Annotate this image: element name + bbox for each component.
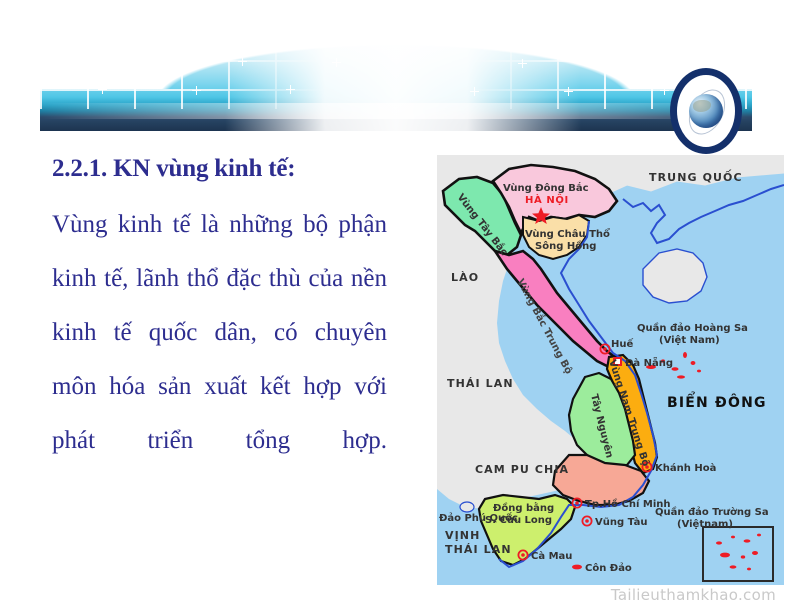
map-label-vinh: VỊNH [445, 529, 480, 542]
map-label-song-hong: Sông Hồng [535, 239, 596, 252]
map-label-phu-quoc: Đảo Phú Quốc [439, 511, 518, 524]
map-label-vinh-thai-lan: THÁI LAN [445, 543, 512, 556]
map-label-ha-noi: HÀ NỘI [525, 193, 569, 206]
map-label-hoang-sa-sub: (Việt Nam) [659, 334, 720, 346]
map-label-hue: Huế [611, 337, 633, 350]
map-label-lao: LÀO [451, 271, 479, 284]
banner-shine [40, 103, 752, 119]
island-con-dao [572, 565, 582, 570]
map-label-vung-dong-bac: Vùng Đông Bắc [503, 181, 589, 194]
map-label-thai-lan: THÁI LAN [447, 377, 514, 390]
map-label-cam-pu-chia: CAM PU CHIA [475, 463, 569, 476]
map-label-da-nang: Đà Nẵng [625, 356, 673, 369]
map-label-hoang-sa: Quần đảo Hoàng Sa [637, 322, 748, 334]
globe-sphere [689, 94, 723, 128]
slide-header-banner [40, 31, 752, 131]
slide-text-column: 2.2.1. KN vùng kinh tế: Vùng kinh tế là … [52, 145, 387, 468]
islands-truong-sa-inset-box [703, 527, 773, 581]
map-graphic: TRUNG QUỐC LÀO THÁI LAN CAM PU CHIA VỊNH… [437, 155, 784, 585]
map-label-ca-mau: Cà Mau [531, 550, 572, 562]
map-label-vung-tau: Vũng Tàu [595, 516, 648, 528]
map-label-trung-quoc: TRUNG QUỐC [649, 169, 743, 184]
vietnam-economic-regions-map: TRUNG QUỐC LÀO THÁI LAN CAM PU CHIA VỊNH… [437, 155, 784, 585]
map-watermark: Tailieuthamkhao.com [437, 586, 784, 608]
body-paragraph: Vùng kinh tế là những bộ phận kinh tế, l… [52, 198, 387, 468]
map-label-con-dao: Côn Đảo [585, 562, 632, 574]
map-label-vung-chau-tho: Vùng Châu Thổ [525, 227, 610, 240]
map-label-truong-sa: Quần đảo Trường Sa [655, 506, 769, 518]
page-title: 2.2.1. KN vùng kinh tế: [52, 145, 387, 192]
map-label-khanh-hoa: Khánh Hoà [655, 462, 716, 474]
island-phu-quoc [460, 502, 474, 512]
banner-dark-rule [40, 119, 752, 131]
banner-curve-mask [40, 31, 752, 89]
map-label-truong-sa-sub: (Việtnam) [677, 518, 733, 530]
globe-icon [670, 68, 742, 154]
